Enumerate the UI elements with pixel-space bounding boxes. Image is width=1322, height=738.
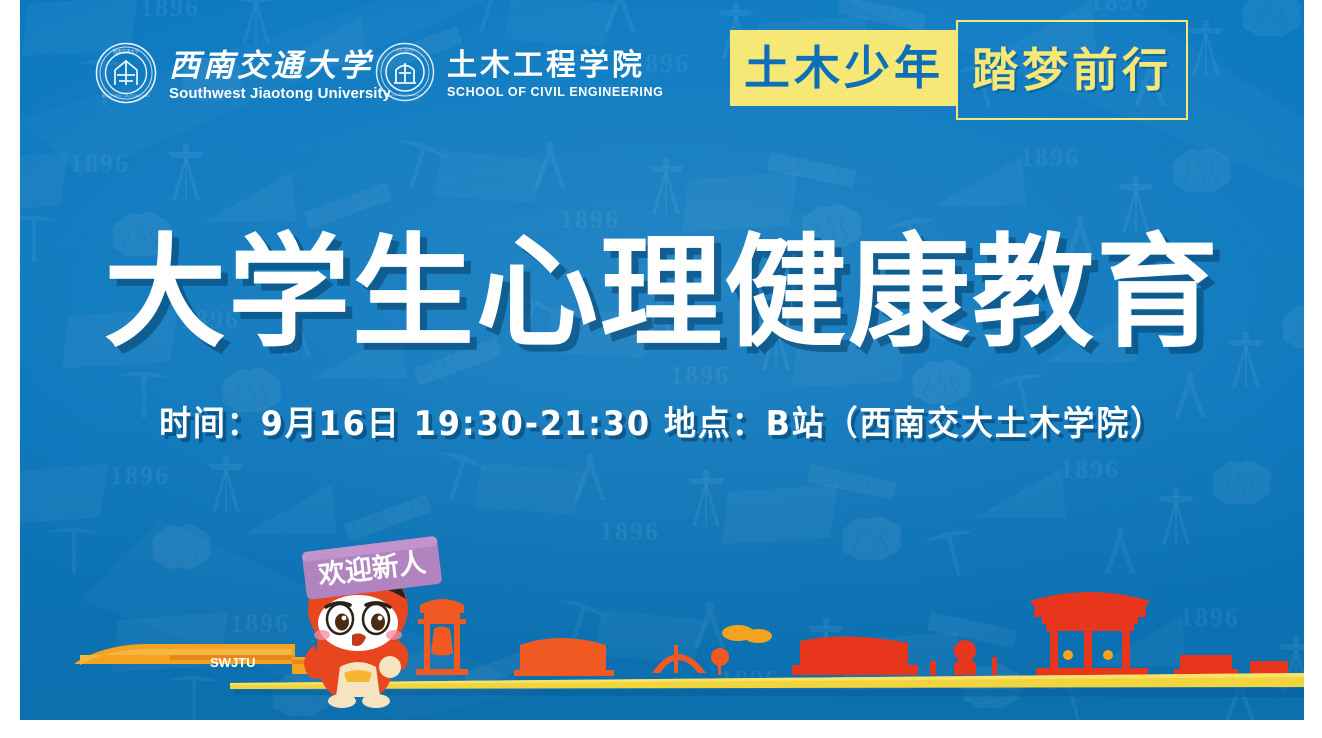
poster-header: 西南交通大学 SOUTHWEST JIAOTONG UNIV. 西南交通大学 S… — [20, 0, 1304, 130]
svg-text:西南交通大学: 西南交通大学 — [113, 48, 140, 55]
page-title: 大学生心理健康教育 — [20, 232, 1304, 354]
university-logo-text: 西南交通大学 Southwest Jiaotong University — [169, 50, 391, 101]
svg-text:土木工程学院: 土木工程学院 — [396, 47, 414, 52]
swjtu-seal-icon: 西南交通大学 SOUTHWEST JIAOTONG UNIV. — [95, 42, 157, 109]
bottom-scene: SWJTU — [20, 505, 1304, 720]
slogan-banner: 土木少年 踏梦前行 — [730, 30, 1188, 106]
school-logo-text: 土木工程学院 SCHOOL OF CIVIL ENGINEERING — [447, 51, 663, 99]
school-logo: 土木工程学院 CIVIL ENGINEERING 土木工程学院 SCHOOL O… — [375, 42, 663, 107]
event-details: 时间：9月16日 19:30-21:30 地点：B站（西南交大土木学院） — [20, 407, 1304, 441]
svg-text:CIVIL ENGINEERING: CIVIL ENGINEERING — [390, 93, 420, 97]
school-name-en: SCHOOL OF CIVIL ENGINEERING — [447, 86, 663, 99]
university-logo: 西南交通大学 SOUTHWEST JIAOTONG UNIV. 西南交通大学 S… — [95, 42, 391, 109]
svg-text:SOUTHWEST JIAOTONG UNIV.: SOUTHWEST JIAOTONG UNIV. — [102, 94, 150, 98]
slogan-outline-text: 踏梦前行 — [956, 20, 1188, 120]
poster-canvas: 1896 — [20, 0, 1304, 720]
city-skyline: SWJTU — [75, 592, 1288, 676]
svg-text:SWJTU: SWJTU — [210, 655, 256, 670]
event-details-text: 时间：9月16日 19:30-21:30 地点：B站（西南交大土木学院） — [160, 407, 1165, 441]
civil-engineering-seal-icon: 土木工程学院 CIVIL ENGINEERING — [375, 42, 435, 107]
school-name-cn: 土木工程学院 — [447, 51, 663, 81]
university-name-en: Southwest Jiaotong University — [169, 86, 391, 101]
university-name-cn: 西南交通大学 — [169, 50, 391, 81]
slogan-solid-text: 土木少年 — [730, 30, 958, 106]
